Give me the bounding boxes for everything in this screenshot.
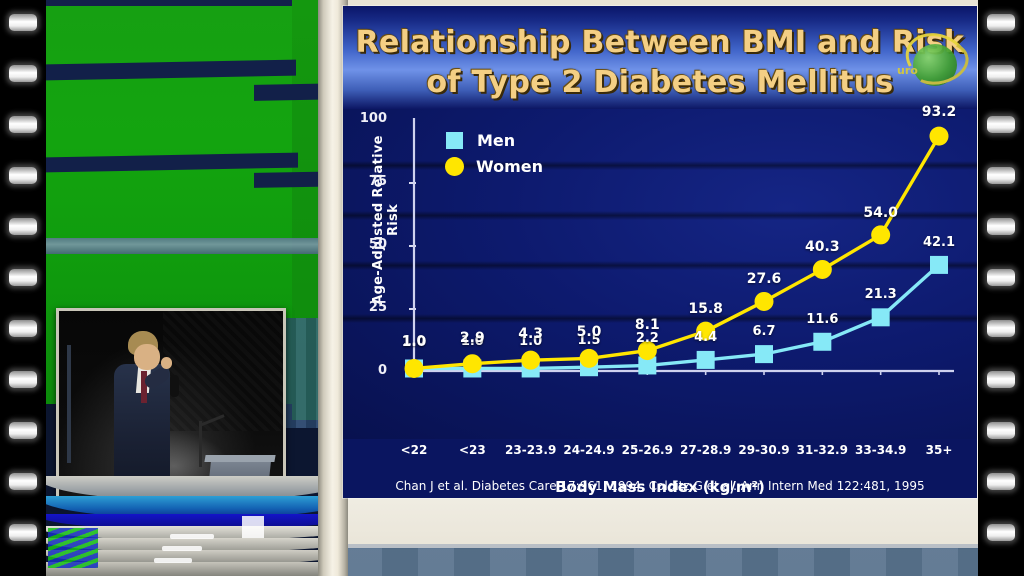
wall-lower-band [346, 548, 978, 576]
slide-title-line-2: of Type 2 Diabetes Mellitus [343, 63, 977, 103]
data-label-men: 4.4 [694, 330, 717, 345]
data-point-marker-men [872, 308, 890, 326]
film-sprocket-hole [9, 116, 37, 133]
data-label-women: 93.2 [922, 104, 957, 120]
film-sprocket-hole [987, 167, 1015, 184]
x-axis-tick-label: 27-28.9 [680, 443, 731, 457]
film-sprocket-hole [9, 65, 37, 82]
film-sprocket-hole [987, 218, 1015, 235]
data-point-marker-women [463, 354, 482, 373]
wall-stripe [46, 0, 292, 6]
studio-floor-edge [46, 238, 346, 254]
desk-highlight [154, 558, 192, 563]
data-label-women: 54.0 [863, 205, 898, 221]
data-label-men: 11.6 [806, 312, 838, 327]
anchor-desk [46, 476, 346, 576]
x-axis-tick-label: 23-23.9 [505, 443, 556, 457]
studio-monitor [56, 308, 286, 504]
data-point-marker-women [580, 349, 599, 368]
data-point-marker-women [405, 359, 424, 378]
desk-graphic-accent [48, 528, 98, 568]
speaker-hand [161, 357, 172, 369]
data-label-men: 21.3 [865, 287, 897, 302]
legend-item-men: Men [446, 127, 543, 153]
data-point-marker-men [697, 351, 715, 369]
film-sprocket-hole [9, 167, 37, 184]
desk-highlight [162, 546, 202, 551]
data-label-women: 5.0 [577, 324, 602, 340]
legend-swatch-square-icon [446, 132, 463, 149]
studio-background [46, 0, 346, 576]
film-sprocket-hole [9, 269, 37, 286]
legend-item-women: Women [446, 153, 543, 179]
film-sprocket-hole [9, 422, 37, 439]
stage-truss [67, 345, 71, 463]
stage-backdrop-texture [163, 311, 283, 431]
data-point-marker-women [521, 351, 540, 370]
film-sprocket-hole [9, 473, 37, 490]
x-axis-tick-label: 31-32.9 [797, 443, 848, 457]
x-axis-tick-label: 29-30.9 [738, 443, 789, 457]
slide-title: Relationship Between BMI and Risk of Typ… [343, 23, 977, 103]
data-label-women: 2.9 [460, 330, 485, 346]
film-sprocket-hole [987, 524, 1015, 541]
film-sprocket-hole [9, 524, 37, 541]
film-sprocket-hole [987, 269, 1015, 286]
data-point-marker-men [930, 256, 948, 274]
legend-label-men: Men [477, 131, 515, 150]
film-sprocket-hole [9, 320, 37, 337]
chart-plot-area: Age-Adjusted Relative Risk 0255075100 1.… [343, 109, 977, 439]
legend-swatch-circle-icon [445, 157, 464, 176]
data-label-men: 42.1 [923, 235, 955, 250]
data-label-men: 6.7 [752, 324, 775, 339]
data-point-marker-women [930, 127, 949, 146]
data-point-marker-women [871, 225, 890, 244]
organization-logo-icon: uro [895, 28, 971, 94]
lectern-top [204, 455, 275, 462]
film-sprocket-hole [987, 371, 1015, 388]
data-label-women: 27.6 [747, 271, 782, 287]
mic-stand [199, 421, 202, 467]
data-label-men: 2.2 [636, 331, 659, 346]
data-label-women: 1.0 [402, 334, 427, 350]
data-label-women: 40.3 [805, 239, 840, 255]
legend-label-women: Women [476, 157, 543, 176]
film-sprocket-hole [9, 371, 37, 388]
desk-highlight [242, 516, 264, 538]
film-sprocket-hole [987, 14, 1015, 31]
x-axis-tick-label: 24-24.9 [563, 443, 614, 457]
data-label-women: 4.3 [518, 326, 543, 342]
film-sprocket-hole [987, 422, 1015, 439]
x-axis-tick-label: 25-26.9 [622, 443, 673, 457]
x-axis-tick-label: 33-34.9 [855, 443, 906, 457]
data-point-marker-men [755, 345, 773, 363]
film-sprocket-hole [987, 473, 1015, 490]
slide-title-line-1: Relationship Between BMI and Risk [343, 23, 977, 63]
x-axis-tick-label: <22 [401, 443, 428, 457]
slide-citation: Chan J et al. Diabetes Care 17:961, 1994… [343, 479, 977, 493]
data-label-women: 8.1 [635, 317, 660, 333]
film-sprocket-hole [987, 320, 1015, 337]
data-label-women: 15.8 [688, 301, 723, 317]
x-axis-tick-labels: <22<2323-23.924-24.925-26.927-28.929-30.… [343, 439, 977, 461]
film-strip-left [0, 0, 46, 576]
desk-highlight [170, 534, 214, 539]
speaker-face [134, 344, 160, 370]
film-sprocket-hole [987, 116, 1015, 133]
data-point-marker-men [813, 333, 831, 351]
film-sprocket-hole [987, 65, 1015, 82]
series-line-men [414, 265, 939, 369]
film-sprocket-hole [9, 14, 37, 31]
slide-title-bar: Relationship Between BMI and Risk of Typ… [343, 6, 977, 109]
film-strip-right [978, 0, 1024, 576]
data-point-marker-women [755, 292, 774, 311]
chart-legend: Men Women [446, 127, 543, 179]
x-axis-tick-label: <23 [459, 443, 486, 457]
logo-text: uro [897, 64, 918, 77]
microphone-icon [170, 375, 179, 397]
presentation-slide: Relationship Between BMI and Risk of Typ… [343, 6, 977, 498]
x-axis-tick-label: 35+ [926, 443, 953, 457]
video-frame: Relationship Between BMI and Risk of Typ… [0, 0, 1024, 576]
data-point-marker-women [813, 260, 832, 279]
speaker-figure [114, 331, 172, 481]
film-sprocket-hole [9, 218, 37, 235]
